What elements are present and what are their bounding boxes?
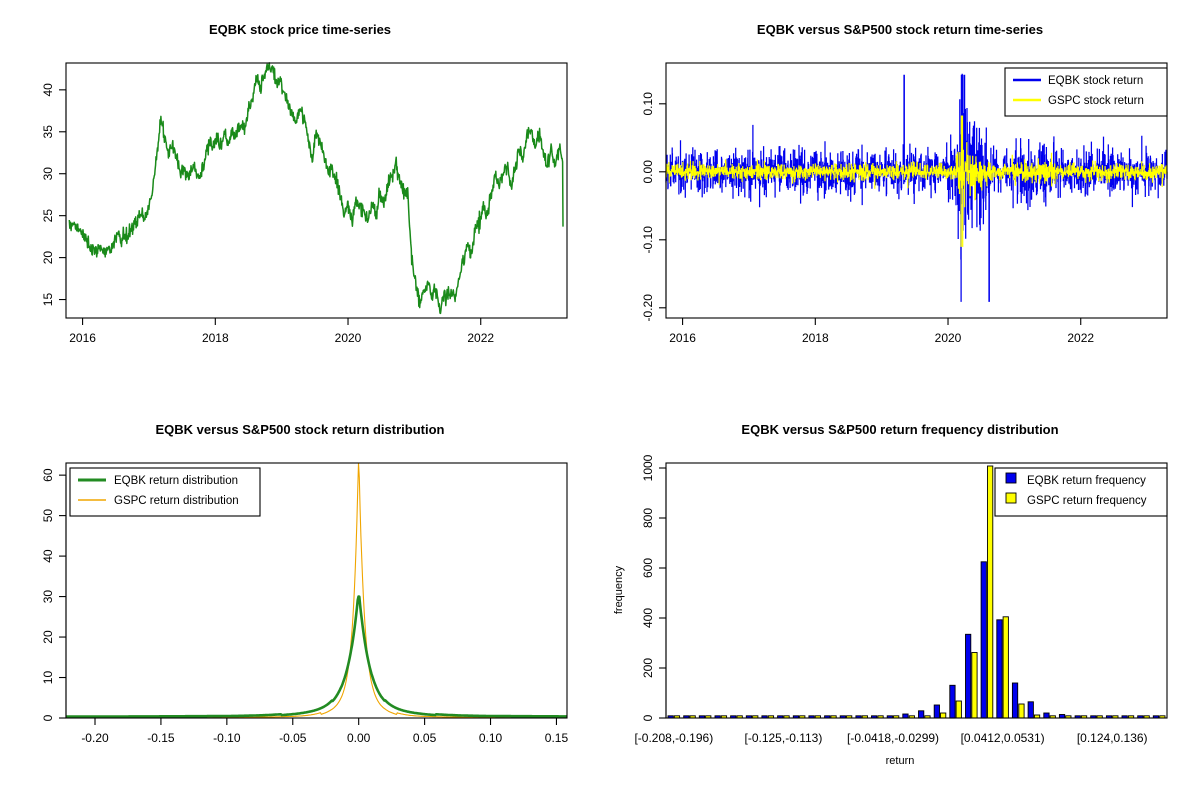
y-tick-label: 40 [41,549,55,563]
x-tick-label: 2022 [1067,331,1094,345]
y-tick-label: 0.00 [641,160,655,184]
histogram-bar-eqbk [1012,683,1017,718]
y-tick-label: 200 [641,658,655,678]
y-tick-label: 40 [41,83,55,97]
legend-label-1: GSPC return frequency [1027,495,1147,507]
price-axes: 1520253035402016201820202022 [41,83,494,345]
x-tick-label: 0.00 [347,731,371,745]
y-tick-label: 60 [41,468,55,482]
price-line-eqbk [69,63,563,314]
y-tick-label: 35 [41,125,55,139]
x-tick-label: 2022 [467,331,494,345]
y-tick-label: 800 [641,508,655,528]
x-tick-label: 2016 [669,331,696,345]
y-tick-label: -0.10 [641,226,655,254]
x-tick-label: 2020 [935,331,962,345]
histogram-bar-eqbk [966,634,971,718]
legend-label-0: EQBK return frequency [1027,475,1146,487]
panel-return-time-series: EQBK versus S&P500 stock return time-ser… [600,0,1200,400]
histogram-chart-svg: EQBK versus S&P500 return frequency dist… [600,400,1200,800]
price-chart-svg: EQBK stock price time-series 15202530354… [0,0,600,400]
density-legend[interactable]: EQBK return distributionGSPC return dist… [70,468,260,516]
legend-label-1: GSPC return distribution [114,495,239,507]
y-tick-label: 0 [641,714,655,721]
y-tick-label: 1000 [641,454,655,481]
histogram-bar-gspc [988,466,993,718]
x-tick-label: 2020 [335,331,362,345]
y-tick-label: 10 [41,671,55,685]
returns-axes: -0.20-0.100.000.102016201820202022 [641,92,1094,345]
panel-return-frequency: EQBK versus S&P500 return frequency dist… [600,400,1200,800]
y-tick-label: 600 [641,558,655,578]
histogram-bar-eqbk [981,562,986,718]
histogram-bar-eqbk [997,620,1002,718]
panel-price-time-series: EQBK stock price time-series 15202530354… [0,0,600,400]
histogram-bar-eqbk [934,705,939,718]
histogram-chart-title: EQBK versus S&P500 return frequency dist… [741,422,1058,437]
density-chart-svg: EQBK versus S&P500 stock return distribu… [0,400,600,800]
histogram-bar-eqbk [919,711,924,718]
y-tick-label: 25 [41,209,55,223]
histogram-bar-gspc [941,713,946,718]
x-tick-label: 2018 [802,331,829,345]
figure-canvas: EQBK stock price time-series 15202530354… [0,0,1200,800]
x-tick-label: [0.124,0.136) [1077,731,1148,745]
histogram-bar-gspc [972,653,977,719]
legend-label-0: EQBK stock return [1048,75,1143,87]
histogram-bar-eqbk [1044,713,1049,718]
returns-legend[interactable]: EQBK stock returnGSPC stock return [1005,68,1167,116]
panel-return-distribution: EQBK versus S&P500 stock return distribu… [0,400,600,800]
price-chart-title: EQBK stock price time-series [209,22,391,37]
legend-label-1: GSPC stock return [1048,95,1144,107]
x-tick-label: -0.15 [147,731,175,745]
legend-label-0: EQBK return distribution [114,475,238,487]
returns-chart-svg: EQBK versus S&P500 stock return time-ser… [600,0,1200,400]
y-tick-label: -0.20 [641,294,655,322]
y-tick-label: 0 [41,714,55,721]
legend-swatch-1 [1006,493,1016,503]
histogram-bar-gspc [1019,704,1024,718]
y-tick-label: 20 [41,630,55,644]
x-tick-label: [-0.125,-0.113) [745,731,823,745]
y-tick-label: 15 [41,293,55,307]
x-tick-label: 0.05 [413,731,437,745]
density-curve-eqbk [66,597,567,717]
histogram-bar-gspc [1003,617,1008,718]
y-tick-label: 400 [641,608,655,628]
x-tick-label: 0.15 [545,731,569,745]
histogram-legend[interactable]: EQBK return frequencyGSPC return frequen… [995,468,1167,516]
y-tick-label: 20 [41,251,55,265]
x-tick-label: -0.05 [279,731,307,745]
x-tick-label: [-0.0418,-0.0299) [847,731,939,745]
y-tick-label: 50 [41,509,55,523]
legend-swatch-0 [1006,473,1016,483]
histogram-bar-eqbk [1028,702,1033,718]
y-tick-label: 30 [41,167,55,181]
returns-chart-title: EQBK versus S&P500 stock return time-ser… [757,22,1043,37]
histogram-bar-eqbk [903,714,908,718]
histogram-bar-gspc [956,701,961,718]
x-tick-label: 2018 [202,331,229,345]
density-chart-title: EQBK versus S&P500 stock return distribu… [156,422,445,437]
x-tick-label: -0.20 [81,731,109,745]
y-tick-label: 0.10 [641,92,655,116]
y-tick-label: 30 [41,590,55,604]
histogram-bar-eqbk [950,685,955,718]
histogram-xaxis-label: return [886,755,915,767]
price-series-group [69,63,563,314]
x-tick-label: [-0.208,-0.196) [634,731,713,745]
x-tick-label: [0.0412,0.0531) [961,731,1045,745]
x-tick-label: 0.10 [479,731,503,745]
x-tick-label: -0.10 [213,731,241,745]
histogram-yaxis-label: frequency [613,565,625,614]
x-tick-label: 2016 [69,331,96,345]
